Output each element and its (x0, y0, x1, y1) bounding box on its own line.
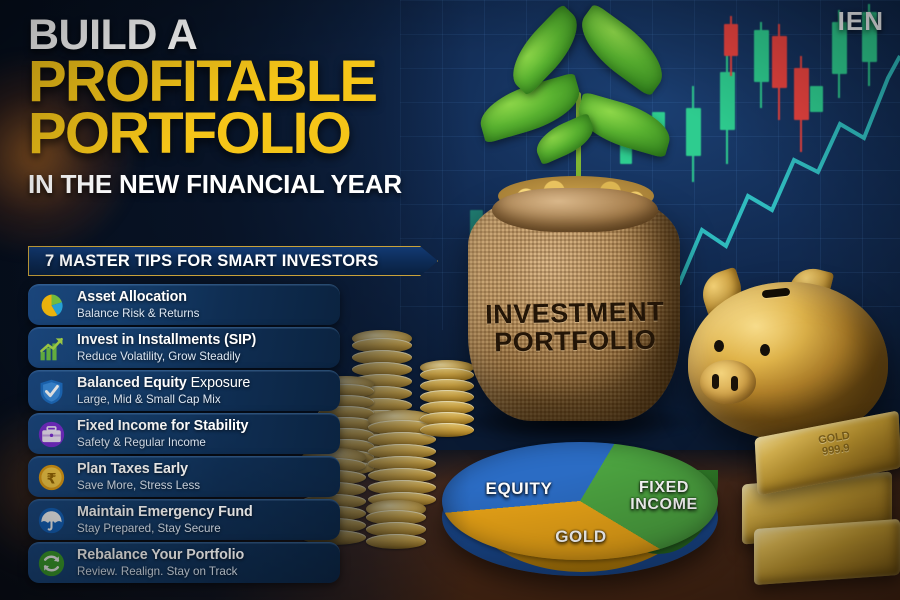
headline-block: BUILD A PROFITABLE PORTFOLIO IN THE NEW … (28, 14, 458, 200)
tip-card-7[interactable]: Rebalance Your PortfolioReview. Realign.… (28, 542, 340, 583)
tip-title-soft: Exposure (191, 375, 251, 391)
tip-subtitle: Safety & Regular Income (77, 436, 248, 449)
tip-title: Asset Allocation (77, 290, 199, 305)
tip-subtitle: Stay Prepared, Stay Secure (77, 522, 253, 535)
tip-title: Fixed Income for Stability (77, 419, 248, 434)
tip-subtitle: Reduce Volatility, Grow Steadily (77, 350, 256, 363)
tip-title: Plan Taxes Early (77, 462, 200, 477)
headline-line-3: PORTFOLIO (28, 108, 458, 160)
tip-card-6[interactable]: Maintain Emergency FundStay Prepared, St… (28, 499, 340, 540)
tip-title: Rebalance Your Portfolio (77, 548, 244, 563)
tip-title: Maintain Emergency Fund (77, 505, 253, 520)
svg-text:₹: ₹ (47, 471, 57, 487)
tip-title: Invest in Installments (SIP) (77, 333, 256, 348)
tip-card-5[interactable]: ₹Plan Taxes EarlySave More, Stress Less (28, 456, 340, 497)
tip-subtitle: Save More, Stress Less (77, 479, 200, 492)
sack-label-line2: PORTFOLIO (470, 326, 680, 357)
pie-label-fixed-income: FIXED INCOME (614, 480, 714, 514)
growth-chart-icon (37, 334, 66, 363)
tip-title: Balanced Equity Exposure (77, 376, 250, 391)
sack-neck (492, 188, 658, 232)
infographic-poster: INVESTMENT PORTFOLIO GOLD 999.9 EQUITY (0, 0, 900, 600)
tip-card-2[interactable]: Invest in Installments (SIP)Reduce Volat… (28, 327, 340, 368)
pie-label-gold: GOLD (526, 528, 636, 546)
brand-logo[interactable]: IEN (838, 6, 884, 37)
tip-subtitle: Large, Mid & Small Cap Mix (77, 393, 250, 406)
sack-label: INVESTMENT PORTFOLIO (470, 298, 681, 357)
tip-card-4[interactable]: Fixed Income for StabilitySafety & Regul… (28, 413, 340, 454)
portfolio-pie-chart: EQUITY FIXED INCOME GOLD (430, 424, 730, 584)
tip-subtitle: Balance Risk & Returns (77, 307, 199, 320)
rupee-coin-icon: ₹ (37, 463, 66, 492)
pie-label-equity: EQUITY (464, 480, 574, 498)
tip-card-1[interactable]: Asset AllocationBalance Risk & Returns (28, 284, 340, 325)
shield-check-icon (37, 377, 66, 406)
pie-chart-icon (37, 291, 66, 320)
briefcase-icon (37, 420, 66, 449)
headline-line-4: IN THE NEW FINANCIAL YEAR (28, 169, 458, 200)
umbrella-icon (37, 506, 66, 535)
master-tips-badge-label: 7 MASTER TIPS FOR SMART INVESTORS (45, 252, 379, 271)
master-tips-badge: 7 MASTER TIPS FOR SMART INVESTORS (28, 246, 438, 276)
tips-list: Asset AllocationBalance Risk & ReturnsIn… (28, 284, 340, 585)
refresh-icon (37, 549, 66, 578)
tip-card-3[interactable]: Balanced Equity ExposureLarge, Mid & Sma… (28, 370, 340, 411)
tip-subtitle: Review. Realign. Stay on Track (77, 565, 244, 578)
